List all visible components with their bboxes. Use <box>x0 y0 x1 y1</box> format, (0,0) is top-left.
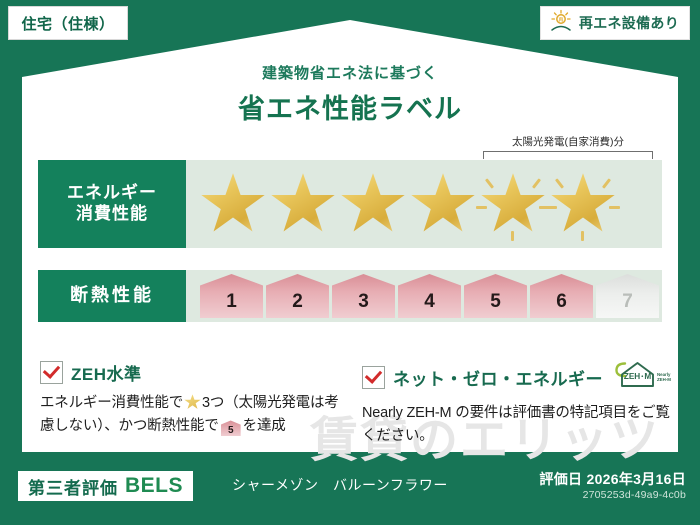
renewable-energy-label: 再エネ設備あり <box>579 13 679 33</box>
zeh-standard-description: エネルギー消費性能で3つ（太陽光発電は考慮しない）、かつ断熱性能で5を達成 <box>40 392 350 439</box>
energy-star-list <box>186 172 616 236</box>
energy-label-line1: エネルギー <box>67 183 157 204</box>
bels-jp-label: 第三者評価 <box>28 474 118 499</box>
insulation-badge-4-num: 4 <box>424 291 435 318</box>
insulation-badge-7-num: 7 <box>622 291 633 318</box>
insulation-performance-label: 断熱性能 <box>38 270 186 322</box>
solar-annotation-text: 太陽光発電(自家消費)分 <box>512 134 624 149</box>
bels-certification-box: 第三者評価 BELS <box>18 471 193 501</box>
star-1 <box>200 172 266 236</box>
insulation-badge-4: 4 <box>398 274 461 318</box>
insulation-badge-1: 1 <box>200 274 263 318</box>
insulation-badge-6-num: 6 <box>556 291 567 318</box>
zeh-m-logo-icon: ZEH･M Nearly ZEH-M <box>611 360 673 395</box>
check-icon <box>362 366 385 389</box>
net-zero-energy-description: Nearly ZEH-M の要件は評価書の特記項目をご覧ください。 <box>362 402 682 449</box>
zeh-standard-text-a: エネルギー消費性能で <box>40 395 183 411</box>
title-subtitle: 建築物省エネ法に基づく <box>0 62 700 83</box>
svg-text:再: 再 <box>558 16 564 23</box>
energy-performance-label: エネルギー 消費性能 <box>38 160 186 248</box>
svg-text:ZEH･M: ZEH･M <box>624 372 651 381</box>
renewable-energy-badge: 再 再エネ設備あり <box>540 6 690 40</box>
star-2 <box>270 172 336 236</box>
energy-rating-body: 太陽光発電(自家消費)分 <box>186 160 662 248</box>
footer-bar: 第三者評価 BELS シャーメゾン バルーンフラワー 評価日 2026年3月16… <box>0 463 700 525</box>
net-zero-energy-heading: ネット・ゼロ・エネルギー ZEH･M Nearly ZEH-M <box>362 360 682 395</box>
zeh-standard-text-c: を達成 <box>243 418 286 434</box>
inline-star-icon <box>184 394 201 410</box>
insulation-badge-5: 5 <box>464 274 527 318</box>
energy-performance-row: エネルギー 消費性能 太陽光発電(自家消費)分 <box>38 160 662 248</box>
star-6-solar <box>550 172 616 236</box>
check-icon <box>40 361 63 384</box>
zeh-standard-title: ZEH水準 <box>71 360 142 385</box>
bels-en-label: BELS <box>125 474 183 498</box>
building-type-tab: 住宅（住棟） <box>8 6 128 40</box>
building-type-label: 住宅（住棟） <box>21 13 114 34</box>
solar-annotation: 太陽光発電(自家消費)分 <box>480 134 656 159</box>
net-zero-energy-block: ネット・ゼロ・エネルギー ZEH･M Nearly ZEH-M Nearly Z… <box>362 360 682 449</box>
zeh-standard-heading: ZEH水準 <box>40 360 350 385</box>
insulation-badge-3: 3 <box>332 274 395 318</box>
bels-label-root: 賃貸のエリッツ 住宅（住棟） 再 再エネ設備あり 建築物省エネ法に基づく <box>0 0 700 525</box>
label-title-block: 建築物省エネ法に基づく 省エネ性能ラベル <box>0 62 700 126</box>
star-5-solar <box>480 172 546 236</box>
evaluation-id: 2705253d-49a9-4c0b <box>583 489 686 501</box>
sun-icon: 再 <box>549 9 573 38</box>
insulation-badge-2: 2 <box>266 274 329 318</box>
insulation-label-text: 断熱性能 <box>70 285 154 307</box>
insulation-performance-row: 断熱性能 1 2 3 4 5 6 <box>38 270 662 322</box>
insulation-rating-body: 1 2 3 4 5 6 7 <box>186 270 662 322</box>
evaluation-date: 評価日 2026年3月16日 <box>539 469 686 489</box>
insulation-badge-7: 7 <box>596 274 659 318</box>
insulation-badge-6: 6 <box>530 274 593 318</box>
star-4 <box>410 172 476 236</box>
property-name: シャーメゾン バルーンフラワー <box>232 475 448 495</box>
net-zero-energy-title: ネット・ゼロ・エネルギー <box>393 365 603 390</box>
insulation-badge-5-num: 5 <box>490 291 501 318</box>
svg-text:ZEH-M: ZEH-M <box>657 377 671 382</box>
insulation-badge-3-num: 3 <box>358 291 369 318</box>
energy-label-line2: 消費性能 <box>76 204 148 225</box>
inline-insulation-badge: 5 <box>221 420 241 436</box>
zeh-standard-block: ZEH水準 エネルギー消費性能で3つ（太陽光発電は考慮しない）、かつ断熱性能で5… <box>40 360 350 439</box>
star-3 <box>340 172 406 236</box>
insulation-badge-list: 1 2 3 4 5 6 7 <box>186 274 659 318</box>
insulation-badge-2-num: 2 <box>292 291 303 318</box>
insulation-badge-1-num: 1 <box>226 291 237 318</box>
solar-bracket <box>483 151 653 159</box>
title-main: 省エネ性能ラベル <box>0 87 700 126</box>
